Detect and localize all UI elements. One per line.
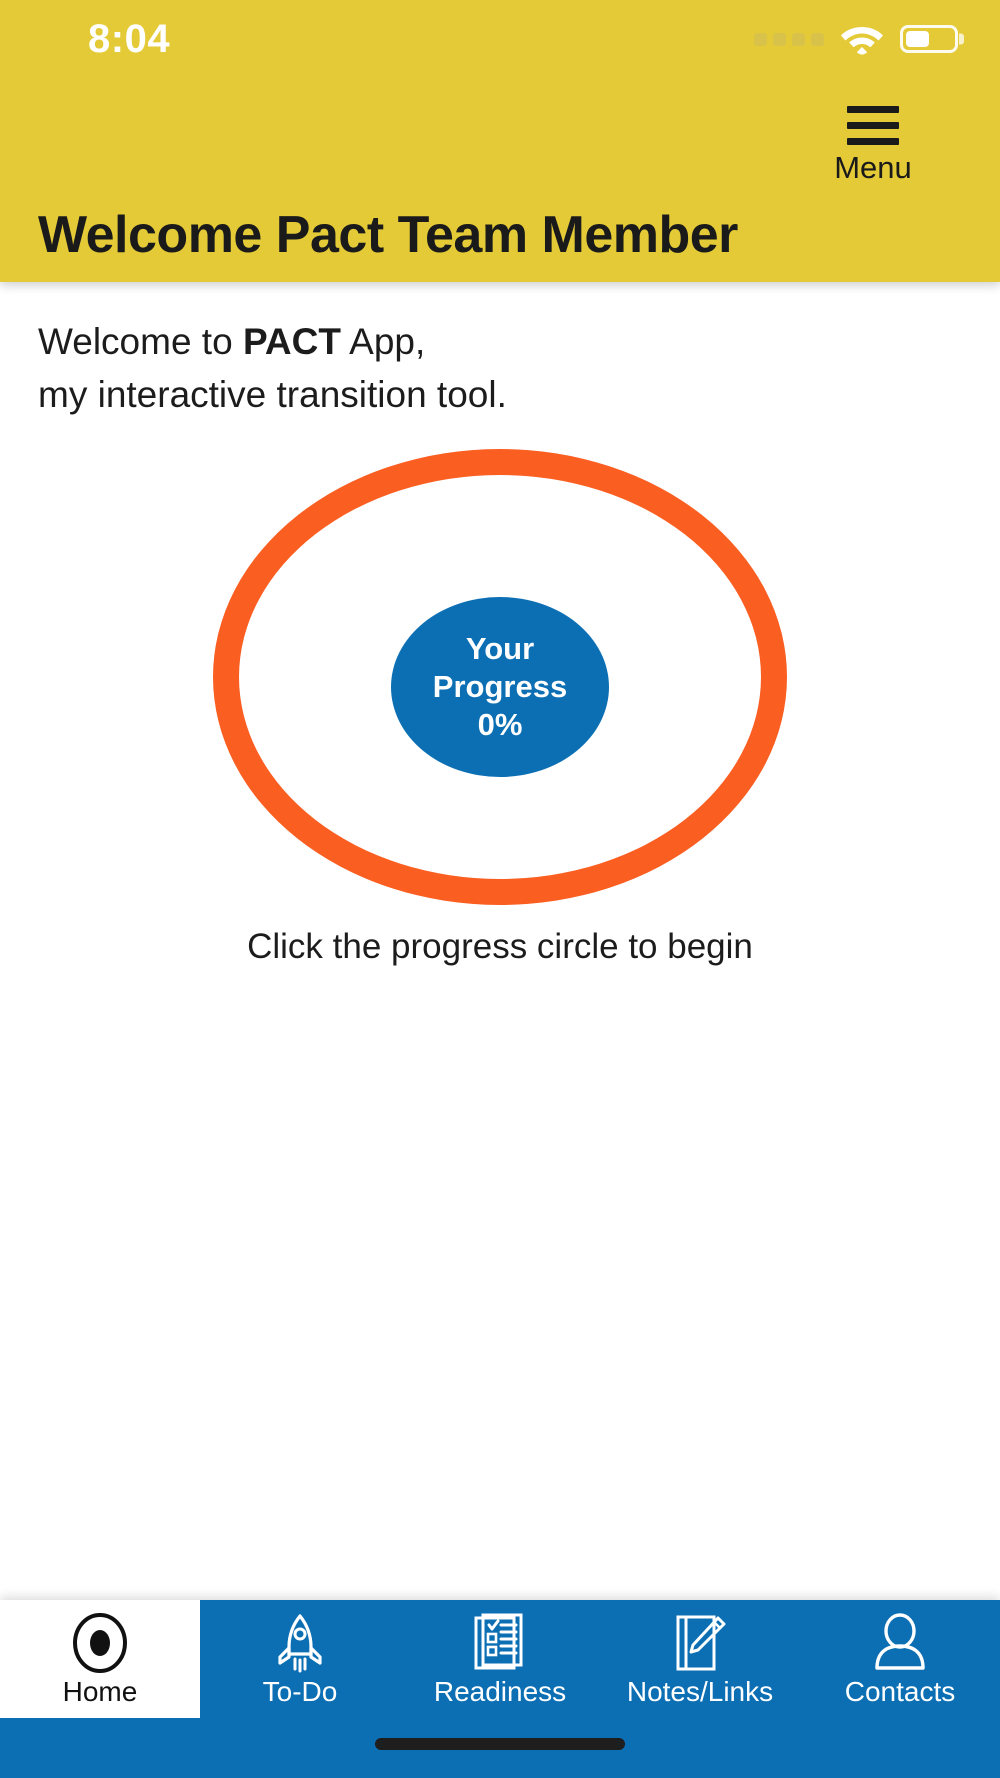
progress-section: Your Progress 0% Click the progress circ… [38,449,962,1039]
intro-text: Welcome to PACT App, my interactive tran… [38,316,962,421]
main-content: Welcome to PACT App, my interactive tran… [0,282,1000,1600]
page-title: Welcome Pact Team Member [38,207,738,264]
nav-item-home[interactable]: Home [0,1600,200,1718]
nav-label-notes-links: Notes/Links [627,1678,773,1706]
nav-item-readiness[interactable]: Readiness [400,1600,600,1718]
wifi-icon [840,23,884,55]
menu-button[interactable]: Menu [808,106,938,183]
nav-label-contacts: Contacts [845,1678,956,1706]
intro-brand: PACT [243,321,341,362]
menu-button-label: Menu [834,152,912,183]
home-indicator[interactable] [375,1738,625,1750]
progress-value: 0% [478,706,523,744]
intro-suffix: App, [341,321,425,362]
rocket-icon [272,1612,328,1674]
hamburger-menu-icon [847,106,899,145]
nav-label-home: Home [63,1678,138,1706]
status-bar-time: 8:04 [88,19,170,59]
progress-caption: Click the progress circle to begin [38,927,962,967]
intro-line-2: my interactive transition tool. [38,369,962,422]
home-circle-dot-icon [69,1612,131,1674]
app-screen: 8:04 Menu Welcome Pact Team Member [0,0,1000,1778]
signal-dots-icon [754,33,824,46]
status-bar: 8:04 [0,0,1000,78]
app-header: 8:04 Menu Welcome Pact Team Member [0,0,1000,282]
nav-label-readiness: Readiness [434,1678,566,1706]
notebook-pencil-icon [670,1612,730,1674]
nav-item-contacts[interactable]: Contacts [800,1600,1000,1718]
progress-label-line-1: Your [466,630,534,668]
battery-icon [900,25,958,53]
nav-label-todo: To-Do [263,1678,338,1706]
bottom-navigation: Home To-Do [0,1600,1000,1778]
nav-item-notes-links[interactable]: Notes/Links [600,1600,800,1718]
checklist-clipboard-icon [470,1612,530,1674]
progress-bubble-button[interactable]: Your Progress 0% [391,597,609,777]
person-icon [871,1612,929,1674]
intro-line-1: Welcome to PACT App, [38,316,962,369]
nav-item-todo[interactable]: To-Do [200,1600,400,1718]
status-bar-indicators [754,23,958,55]
progress-label-line-2: Progress [433,668,567,706]
intro-prefix: Welcome to [38,321,243,362]
